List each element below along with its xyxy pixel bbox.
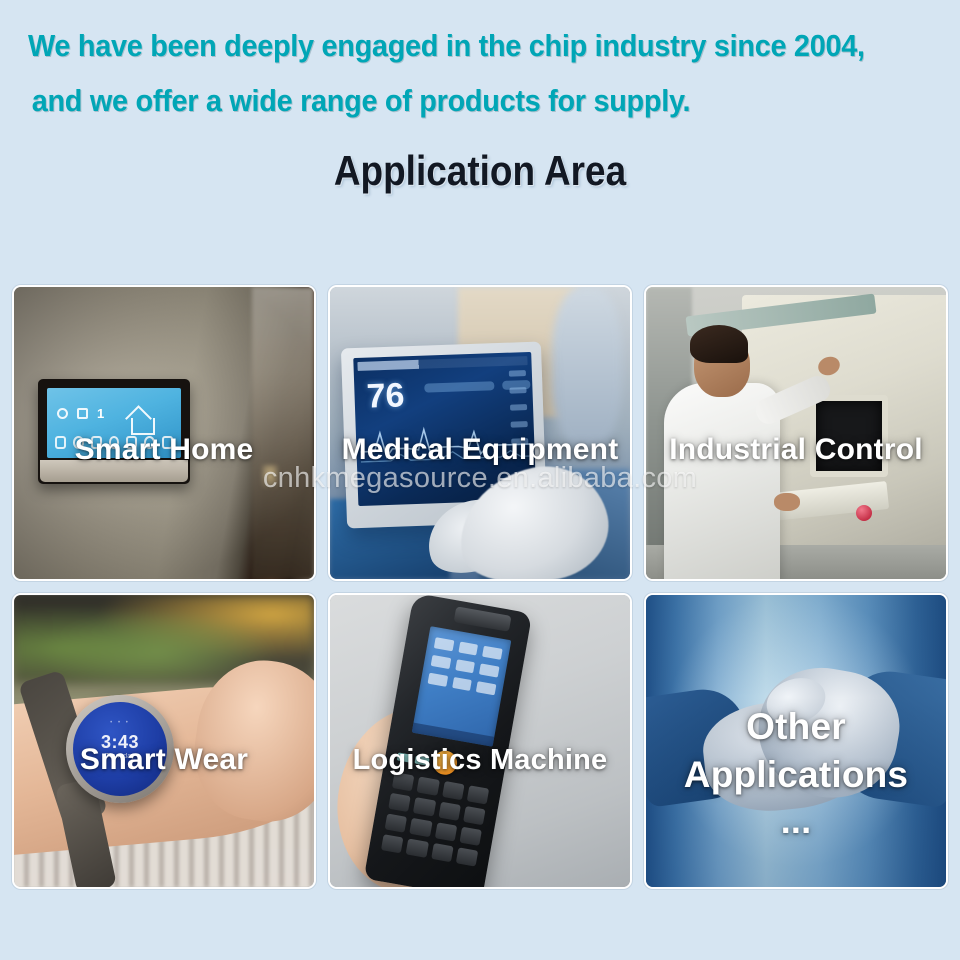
other-label-line-2: Applications [684,754,908,795]
card-logistics-machine[interactable]: Logistics Machine [328,593,632,889]
readout-3 [510,404,527,411]
card-smart-home[interactable]: 1 Smart Home [12,285,316,581]
technician-hand-lower [774,493,800,511]
app-icon-7 [428,673,448,687]
card-label-smart-wear: Smart Wear [14,743,314,777]
watch-top-indicators: • • • [73,720,167,726]
vital-value: 76 [366,376,405,416]
keypad-key [388,793,411,812]
card-smart-wear[interactable]: • • • 3:43 Thursday Smart Wear [12,593,316,889]
keypad-key [431,843,454,862]
keypad-key [459,827,482,846]
app-icon-9 [476,681,496,695]
other-label-line-1: Other [746,706,846,747]
app-icon-5 [455,659,475,673]
panel-status-row: 1 [57,406,104,421]
card-label-industrial-control: Industrial Control [646,433,946,467]
readout-2 [509,387,526,394]
page-header: We have been deeply engaged in the chip … [0,0,960,200]
smart-wear-scene: • • • 3:43 Thursday [14,595,314,887]
keypad-key [409,818,432,837]
keypad-key [434,822,457,841]
card-industrial-control[interactable]: Industrial Control [644,285,948,581]
app-icon-3 [482,646,502,660]
card-label-other-applications: Other Applications ... [646,703,946,843]
emergency-stop-button [856,505,872,521]
keypad-key [417,777,440,796]
app-icon-8 [452,677,472,691]
readout-4 [511,421,528,428]
keypad-key [385,813,408,832]
terminal-screen [412,626,512,747]
application-area-grid: 1 Smart Home [12,285,952,889]
readout-1 [509,370,526,377]
card-label-logistics-machine: Logistics Machine [330,743,630,777]
logistics-scene [330,595,630,887]
sun-icon [57,408,68,419]
terminal-icon-grid [428,637,503,695]
keypad-key [456,847,479,866]
scanner-head [454,606,512,631]
keypad-key [463,806,486,825]
tagline-line-1: We have been deeply engaged in the chip … [28,18,869,73]
app-icon-4 [431,655,451,669]
keypad-key [381,834,404,853]
card-label-smart-home: Smart Home [14,433,314,467]
app-icon-6 [479,664,499,678]
humidity-icon [77,408,88,419]
app-icon-1 [434,637,454,651]
keypad-key [442,781,465,800]
keypad-key [406,839,429,858]
card-label-medical-equipment: Medical Equipment [330,433,630,467]
app-icon-2 [458,641,478,655]
other-label-line-3: ... [646,799,946,843]
monitor-field-1 [424,381,494,392]
keypad-key [466,785,489,804]
panel-temperature: 1 [97,406,104,421]
card-medical-equipment[interactable]: 76 [328,285,632,581]
page-title: Application Area [82,142,878,200]
technician-hair [690,325,748,363]
monitor-status-bar [357,356,527,371]
smart-home-panel: 1 [38,379,190,484]
card-other-applications[interactable]: Other Applications ... [644,593,948,889]
tagline-line-2: and we offer a wide range of products fo… [28,73,869,128]
keypad-key [438,802,461,821]
background-person [552,287,622,447]
keypad-key [413,797,436,816]
numeric-keypad [378,772,489,883]
